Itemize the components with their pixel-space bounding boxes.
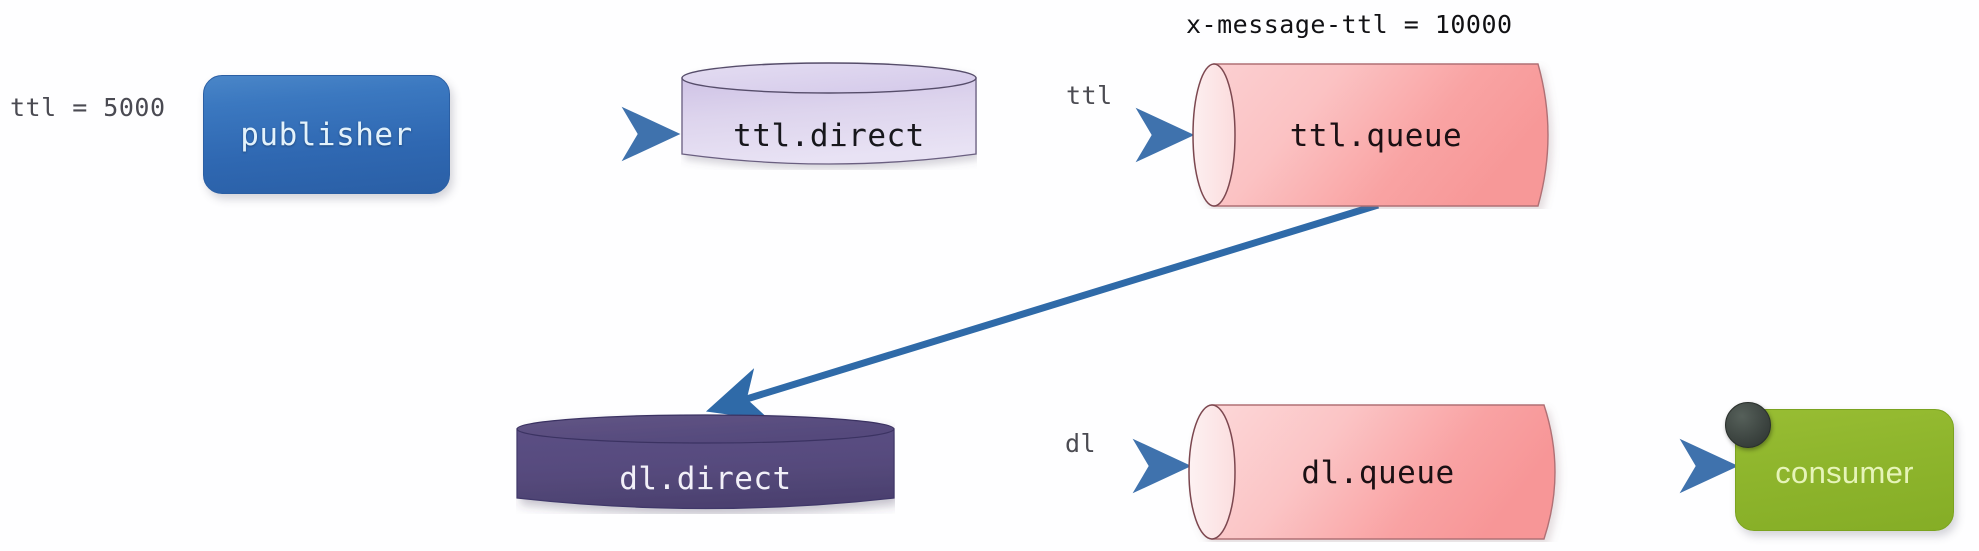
node-dl-direct[interactable]: dl.direct [516,414,895,514]
node-dl-queue[interactable]: dl.queue [1188,402,1568,542]
annotation-publisher-ttl: ttl = 5000 [10,93,166,122]
node-ttl-direct-label: ttl.direct [681,118,977,154]
node-ttl-queue[interactable]: ttl.queue [1192,61,1560,209]
node-dl-direct-label: dl.direct [516,461,895,497]
node-consumer-label: consumer [1775,455,1914,491]
consumer-badge-circle-icon [1725,402,1771,448]
annotation-queue-ttl-argument: x-message-ttl = 10000 [1186,10,1513,39]
edge-ttl-queue-to-dl-direct [714,205,1378,409]
node-ttl-queue-label: ttl.queue [1192,118,1560,154]
edge-label-ttl: ttl [1066,81,1113,110]
node-consumer[interactable]: consumer [1735,409,1954,531]
edge-label-dl: dl [1065,429,1096,458]
node-dl-queue-label: dl.queue [1188,455,1568,491]
node-publisher[interactable]: publisher [203,75,450,194]
diagram-canvas: ttl = 5000 x-message-ttl = 10000 ttl dl … [0,0,1979,551]
node-publisher-label: publisher [240,117,412,153]
node-ttl-direct[interactable]: ttl.direct [681,62,977,170]
